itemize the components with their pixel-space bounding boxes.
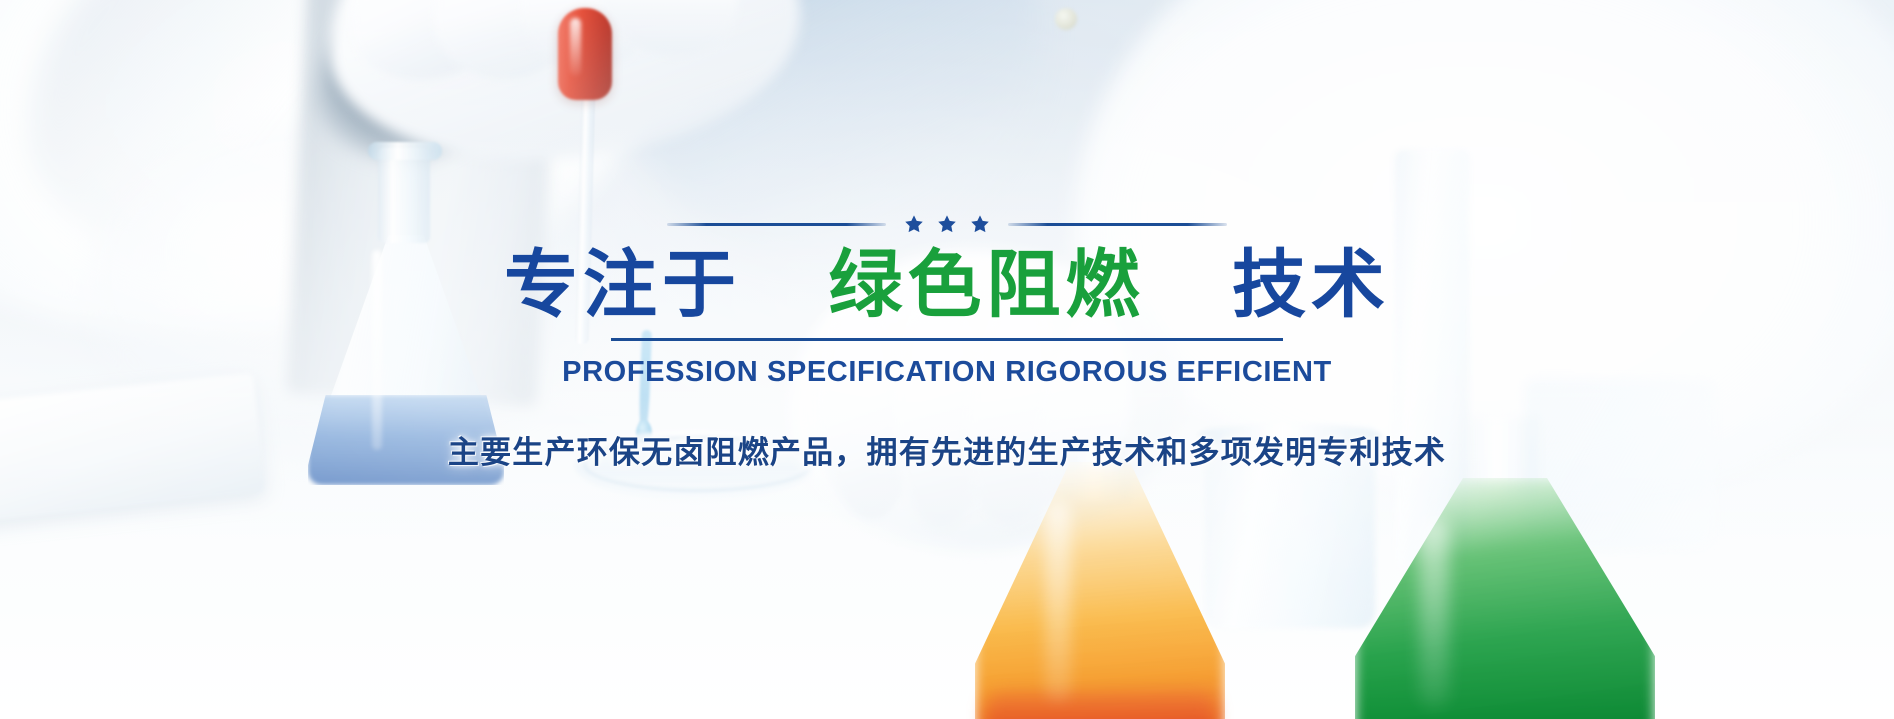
title-part-one: 专注于	[504, 242, 741, 328]
banner-content: 专注于 绿色阻燃 技术 PROFESSION SPECIFICATION RIG…	[0, 0, 1894, 719]
hero-banner: 专注于 绿色阻燃 技术 PROFESSION SPECIFICATION RIG…	[0, 0, 1894, 719]
subtitle-english: PROFESSION SPECIFICATION RIGOROUS EFFICI…	[562, 356, 1332, 389]
divider-stars	[904, 214, 990, 234]
title-part-three: 技术	[1232, 242, 1390, 328]
divider-rule-left	[667, 223, 886, 226]
title-part-two: 绿色阻燃	[829, 242, 1145, 328]
star-icon	[970, 214, 990, 234]
title-underline	[611, 338, 1283, 341]
star-icon	[904, 214, 924, 234]
tagline-chinese: 主要生产环保无卤阻燃产品，拥有先进的生产技术和多项发明专利技术	[448, 427, 1446, 472]
divider-rule-right	[1008, 223, 1227, 226]
star-icon	[937, 214, 957, 234]
decorative-divider	[667, 214, 1227, 234]
page-title: 专注于 绿色阻燃 技术	[504, 248, 1390, 322]
